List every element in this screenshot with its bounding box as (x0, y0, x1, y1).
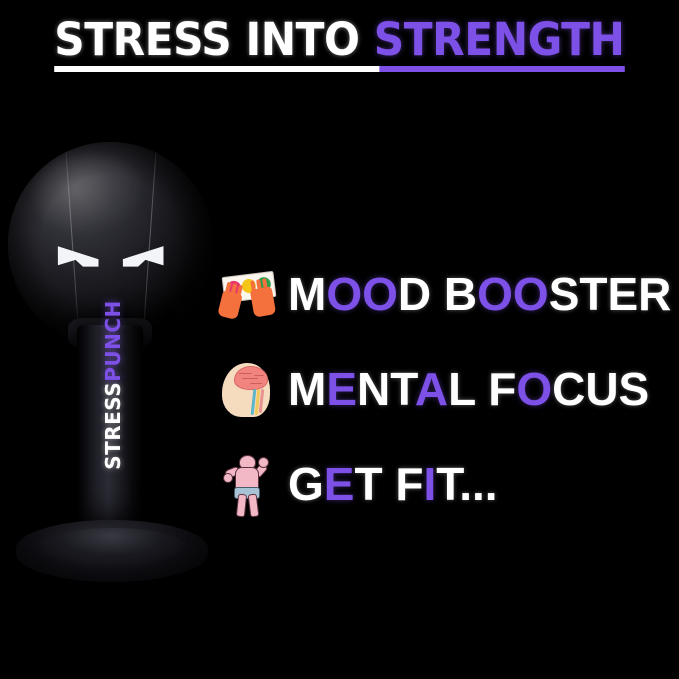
seg: E (324, 458, 355, 510)
product-image: STRESSPUNCH (0, 120, 225, 590)
fist-right (258, 457, 269, 468)
brand-label-punch: PUNCH (101, 300, 125, 382)
head-profile (222, 361, 276, 417)
brand-label-stress: STRESS (101, 382, 125, 470)
seg: E (326, 363, 357, 415)
title-underline-white (54, 66, 379, 72)
seg: M (288, 363, 326, 415)
stand-base-ring (38, 528, 186, 564)
feature-label-get-fit: GET FIT... (288, 459, 498, 509)
seg: A (415, 363, 448, 415)
title-text: STRESS INTO STRENGTH (54, 16, 624, 64)
fist-left (223, 473, 233, 483)
page-title: STRESS INTO STRENGTH (0, 16, 679, 64)
seg: O (516, 363, 552, 415)
seg: T F (354, 458, 423, 510)
angry-eyes-icon (58, 230, 164, 272)
brain-shape (234, 366, 268, 390)
seg: OO (477, 268, 549, 320)
head-brain-icon (218, 357, 282, 421)
flexing-bodybuilder-icon (218, 452, 282, 516)
title-part-white: STRESS INTO (54, 13, 374, 66)
title-underline (54, 66, 624, 72)
brand-label: STRESSPUNCH (103, 300, 123, 470)
seg: I (423, 458, 436, 510)
mood-survey-card-icon (218, 262, 282, 326)
feature-item-mood-booster: MOOD BOOSTER (218, 246, 678, 341)
feature-item-get-fit: GET FIT... (218, 436, 678, 531)
seg: G (288, 458, 324, 510)
leg-left (236, 493, 247, 517)
seg: T... (436, 458, 497, 510)
feature-list: MOOD BOOSTER (218, 246, 678, 531)
seg: M (288, 268, 326, 320)
seg: OO (326, 268, 398, 320)
hand-right (250, 286, 277, 317)
seg: CUS (552, 363, 649, 415)
seg: NT (357, 363, 415, 415)
title-part-purple: STRENGTH (374, 13, 625, 66)
poster-canvas: STRESS INTO STRENGTH STRESSPUNCH (0, 0, 679, 679)
eye-left (58, 236, 99, 267)
title-underline-purple (379, 66, 624, 72)
seg: STER (549, 268, 672, 320)
hand-left (217, 289, 243, 319)
feature-label-mood-booster: MOOD BOOSTER (288, 269, 671, 319)
feature-item-mental-focus: MENTAL FOCUS (218, 341, 678, 436)
bodybuilder-figure (226, 454, 270, 516)
feature-label-mental-focus: MENTAL FOCUS (288, 364, 649, 414)
eye-right (123, 236, 164, 267)
seg: D B (398, 268, 477, 320)
seg: L F (448, 363, 516, 415)
